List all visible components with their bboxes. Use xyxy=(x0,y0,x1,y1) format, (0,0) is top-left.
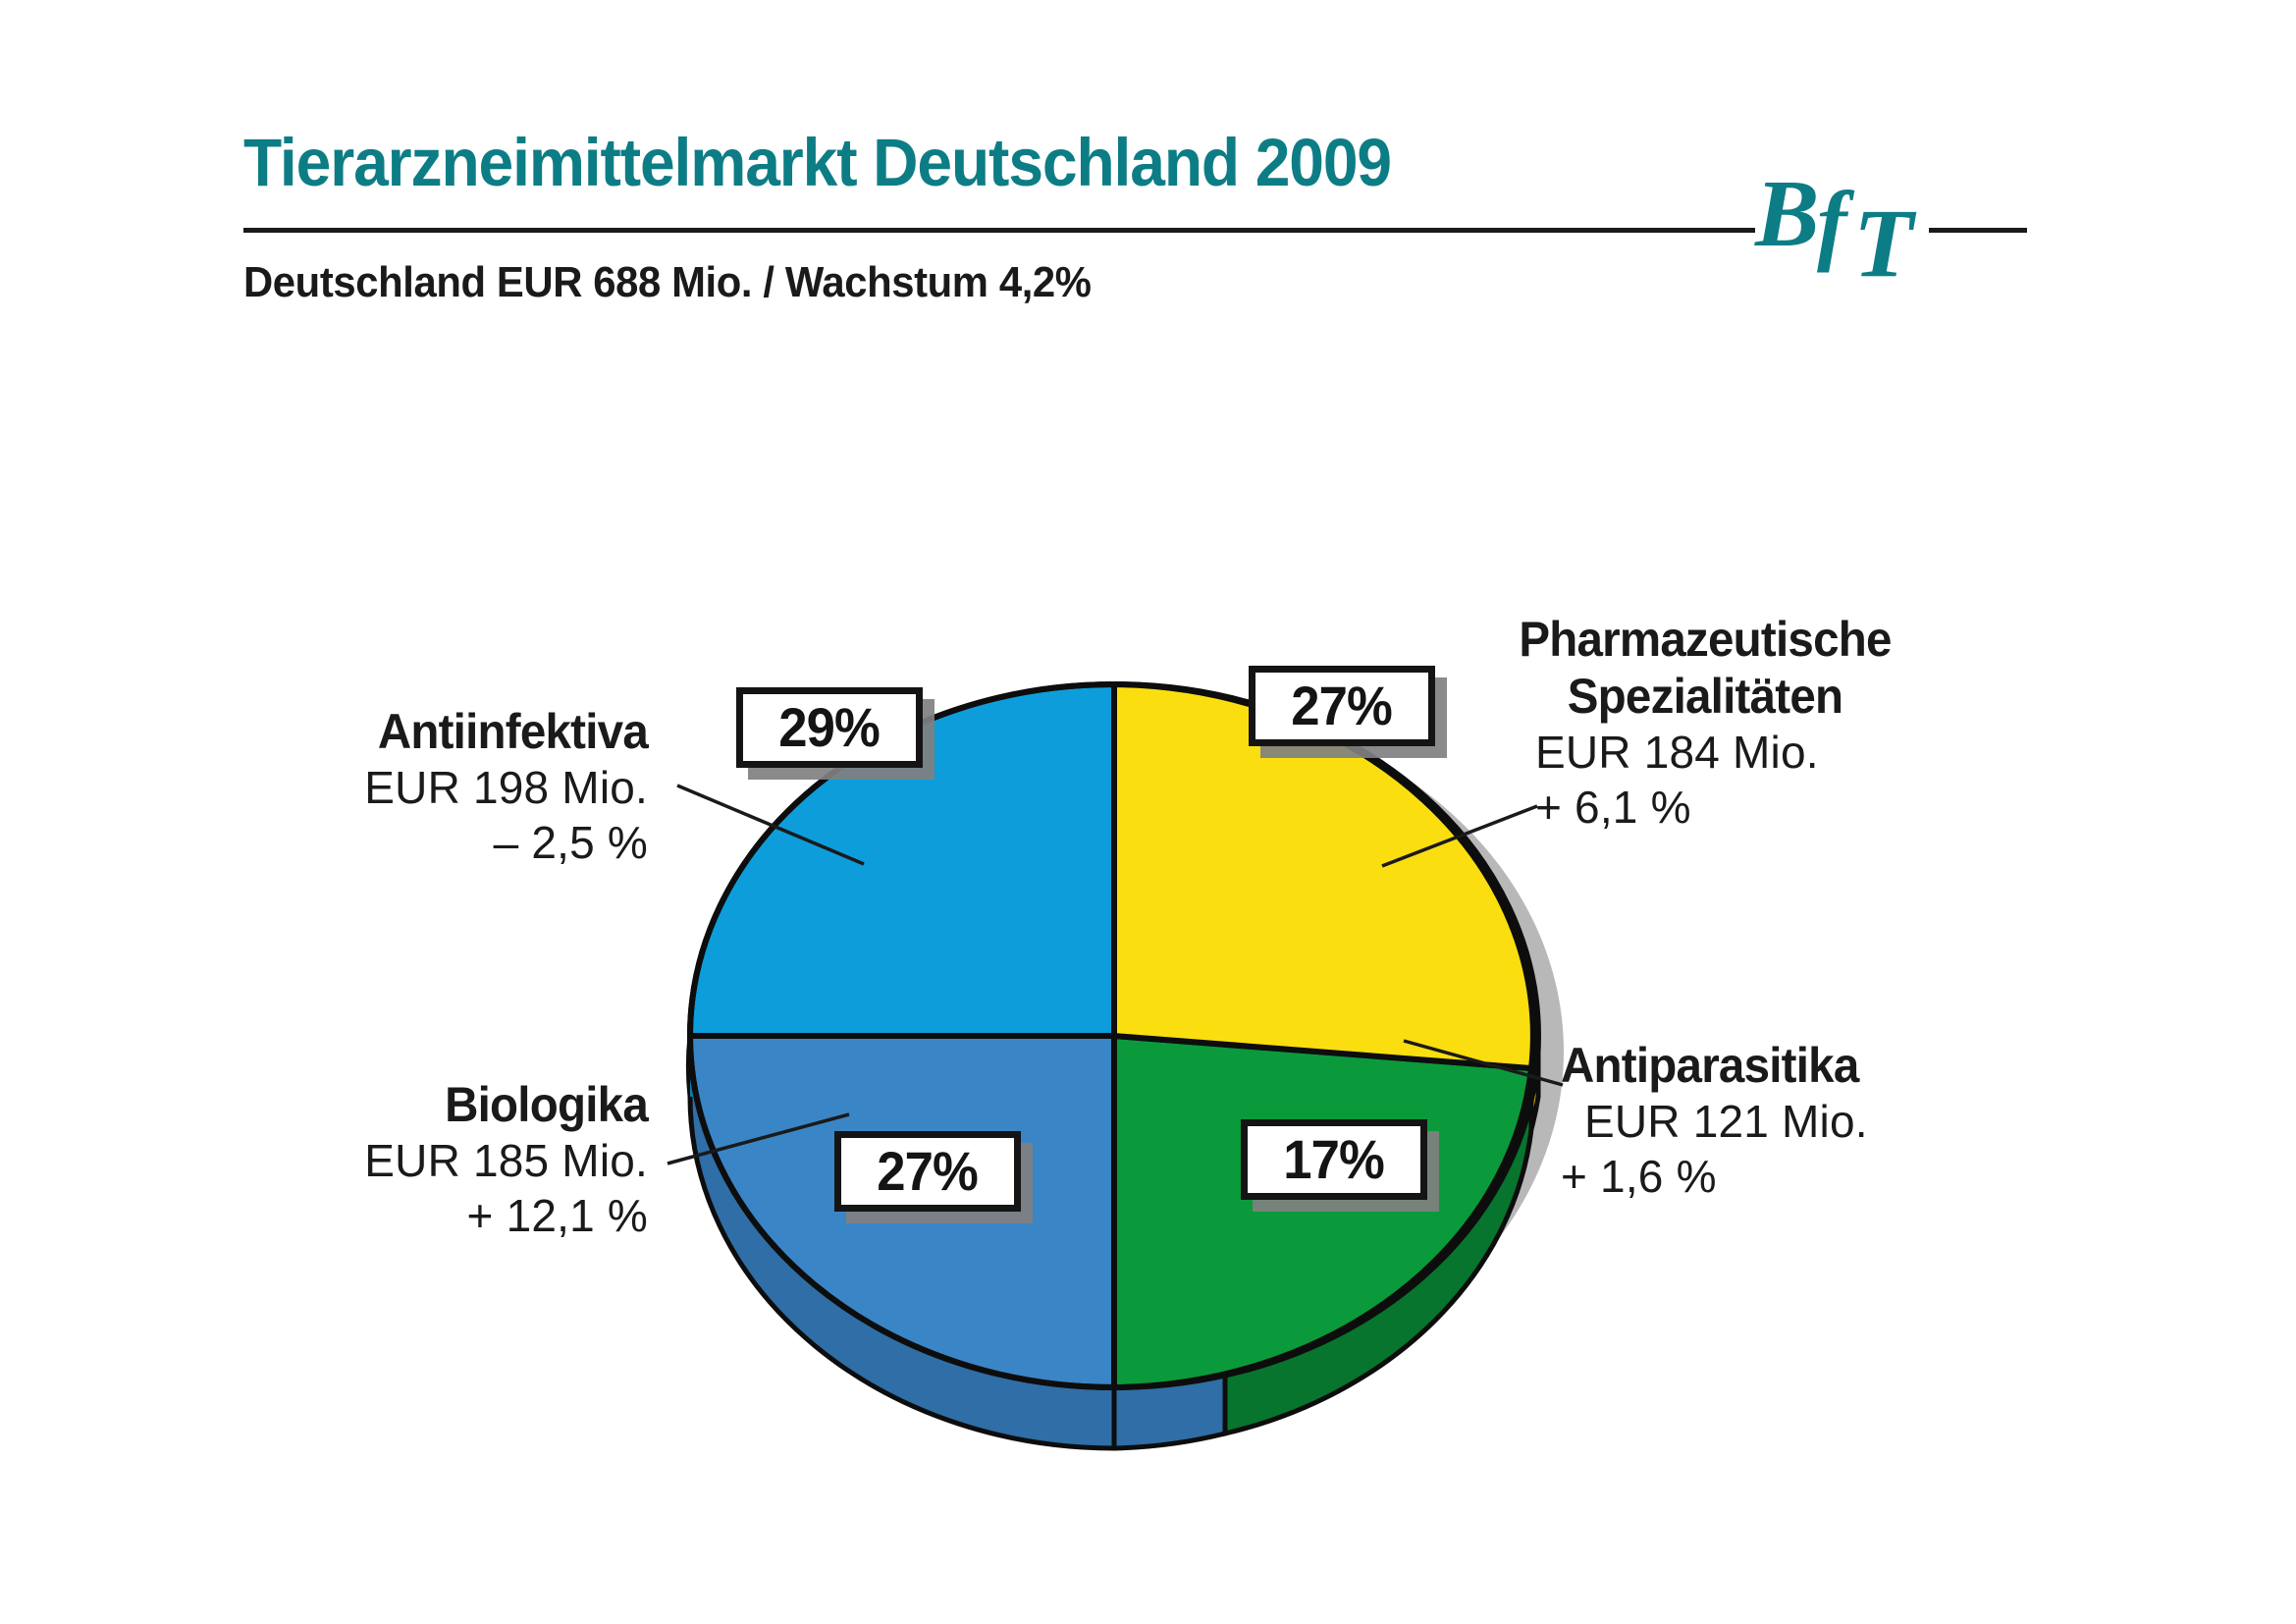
percent-badge-antiparasitika: 17% xyxy=(1241,1119,1427,1200)
slice-label-value: EUR 184 Mio. xyxy=(1463,725,1973,780)
percent-badge-biologika: 27% xyxy=(834,1131,1021,1212)
percent-badge-label: 29% xyxy=(779,700,881,755)
slice-label-growth: + 12,1 % xyxy=(177,1188,648,1243)
slice-label-growth: + 1,6 % xyxy=(1561,1149,1993,1204)
slice-label-antiinfektiva: Antiinfektiva EUR 198 Mio. – 2,5 % xyxy=(177,703,648,870)
pie-slice-biologika xyxy=(690,1036,1114,1387)
slice-label-antiparasitika: Antiparasitika EUR 121 Mio. + 1,6 % xyxy=(1561,1037,1993,1204)
slice-label-pharmazeutische: Pharmazeutische Spezialitäten EUR 184 Mi… xyxy=(1463,611,1973,835)
percent-badge-antiinfektiva: 29% xyxy=(736,687,923,768)
slice-label-value: EUR 185 Mio. xyxy=(177,1133,648,1188)
percent-badge-label: 17% xyxy=(1284,1132,1385,1187)
slice-label-growth: + 6,1 % xyxy=(1463,780,1973,835)
percent-badge-label: 27% xyxy=(1292,678,1393,733)
slice-label-name-line2: Spezialitäten xyxy=(1463,668,1948,725)
percent-badge-pharmazeutische: 27% xyxy=(1249,666,1435,746)
pie-slice-antiparasitika-fill xyxy=(1114,1036,1531,1387)
slice-label-value: EUR 198 Mio. xyxy=(177,760,648,815)
slice-label-name: Biologika xyxy=(200,1076,648,1133)
slice-label-biologika: Biologika EUR 185 Mio. + 12,1 % xyxy=(177,1076,648,1243)
slice-label-growth: – 2,5 % xyxy=(177,815,648,870)
slice-label-name: Antiparasitika xyxy=(1561,1037,1971,1094)
slice-label-name: Antiinfektiva xyxy=(200,703,648,760)
percent-badge-label: 27% xyxy=(878,1144,979,1199)
slice-label-value: EUR 121 Mio. xyxy=(1561,1094,1993,1149)
slice-label-name-line1: Pharmazeutische xyxy=(1463,611,1948,668)
pie-chart: 29% 27% 17% 27% Antiinfektiva EUR 198 Mi… xyxy=(0,0,2296,1624)
